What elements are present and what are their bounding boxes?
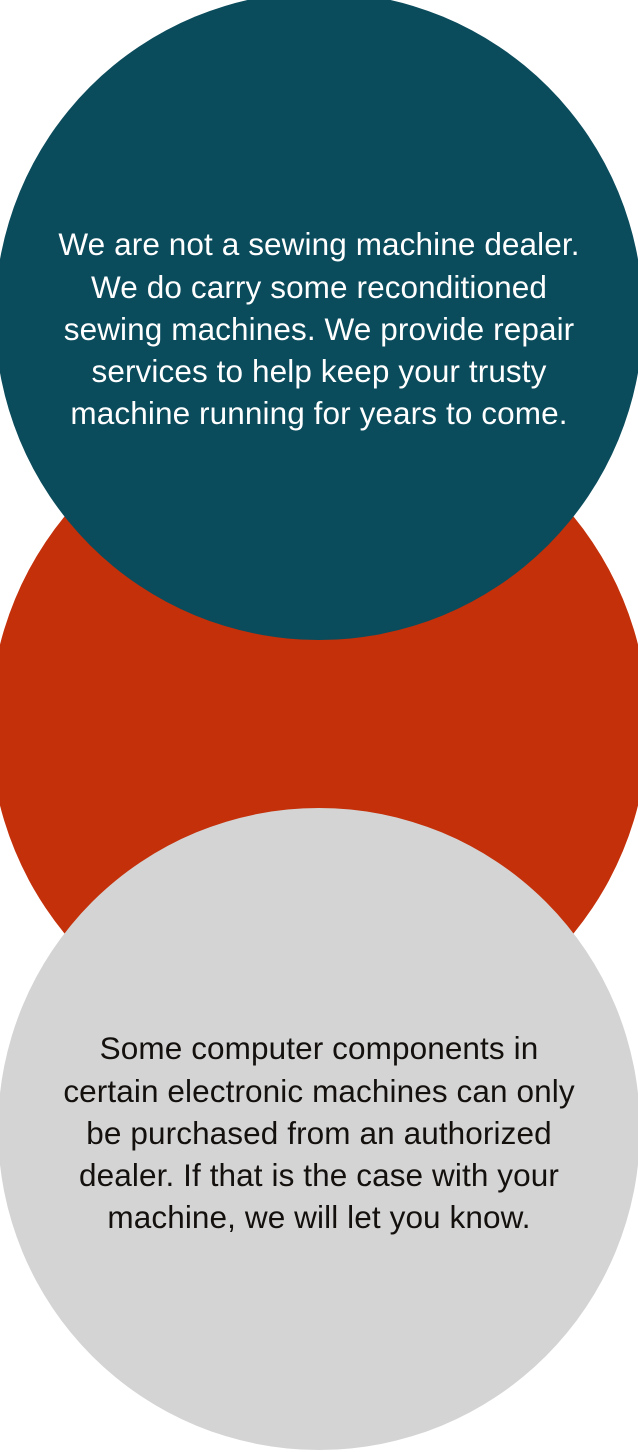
repair-services-circle: We are not a sewing machine dealer. We d… [0,0,638,640]
authorized-dealer-text: Some computer components in certain elec… [47,1027,592,1238]
repair-services-text: We are not a sewing machine dealer. We d… [47,223,592,434]
infographic-canvas: Some computer components in certain elec… [0,0,638,1452]
authorized-dealer-circle: Some computer components in certain elec… [0,808,638,1450]
